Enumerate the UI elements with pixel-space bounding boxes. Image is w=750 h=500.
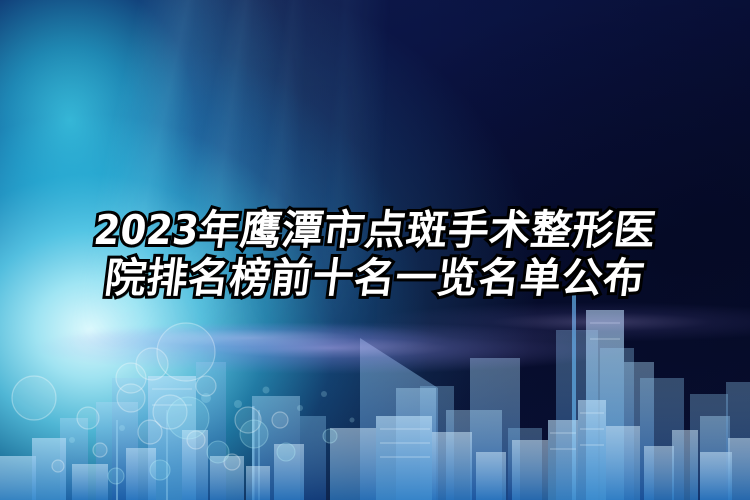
banner-title: 2023年鹰潭市点斑手术整形医 院排名榜前十名一览名单公布 xyxy=(0,206,750,302)
title-line-1: 2023年鹰潭市点斑手术整形医 xyxy=(0,206,750,254)
title-line-2: 院排名榜前十名一览名单公布 xyxy=(0,254,750,302)
promo-banner: '); mask-image: url('data:image/svg+xml;… xyxy=(0,0,750,500)
